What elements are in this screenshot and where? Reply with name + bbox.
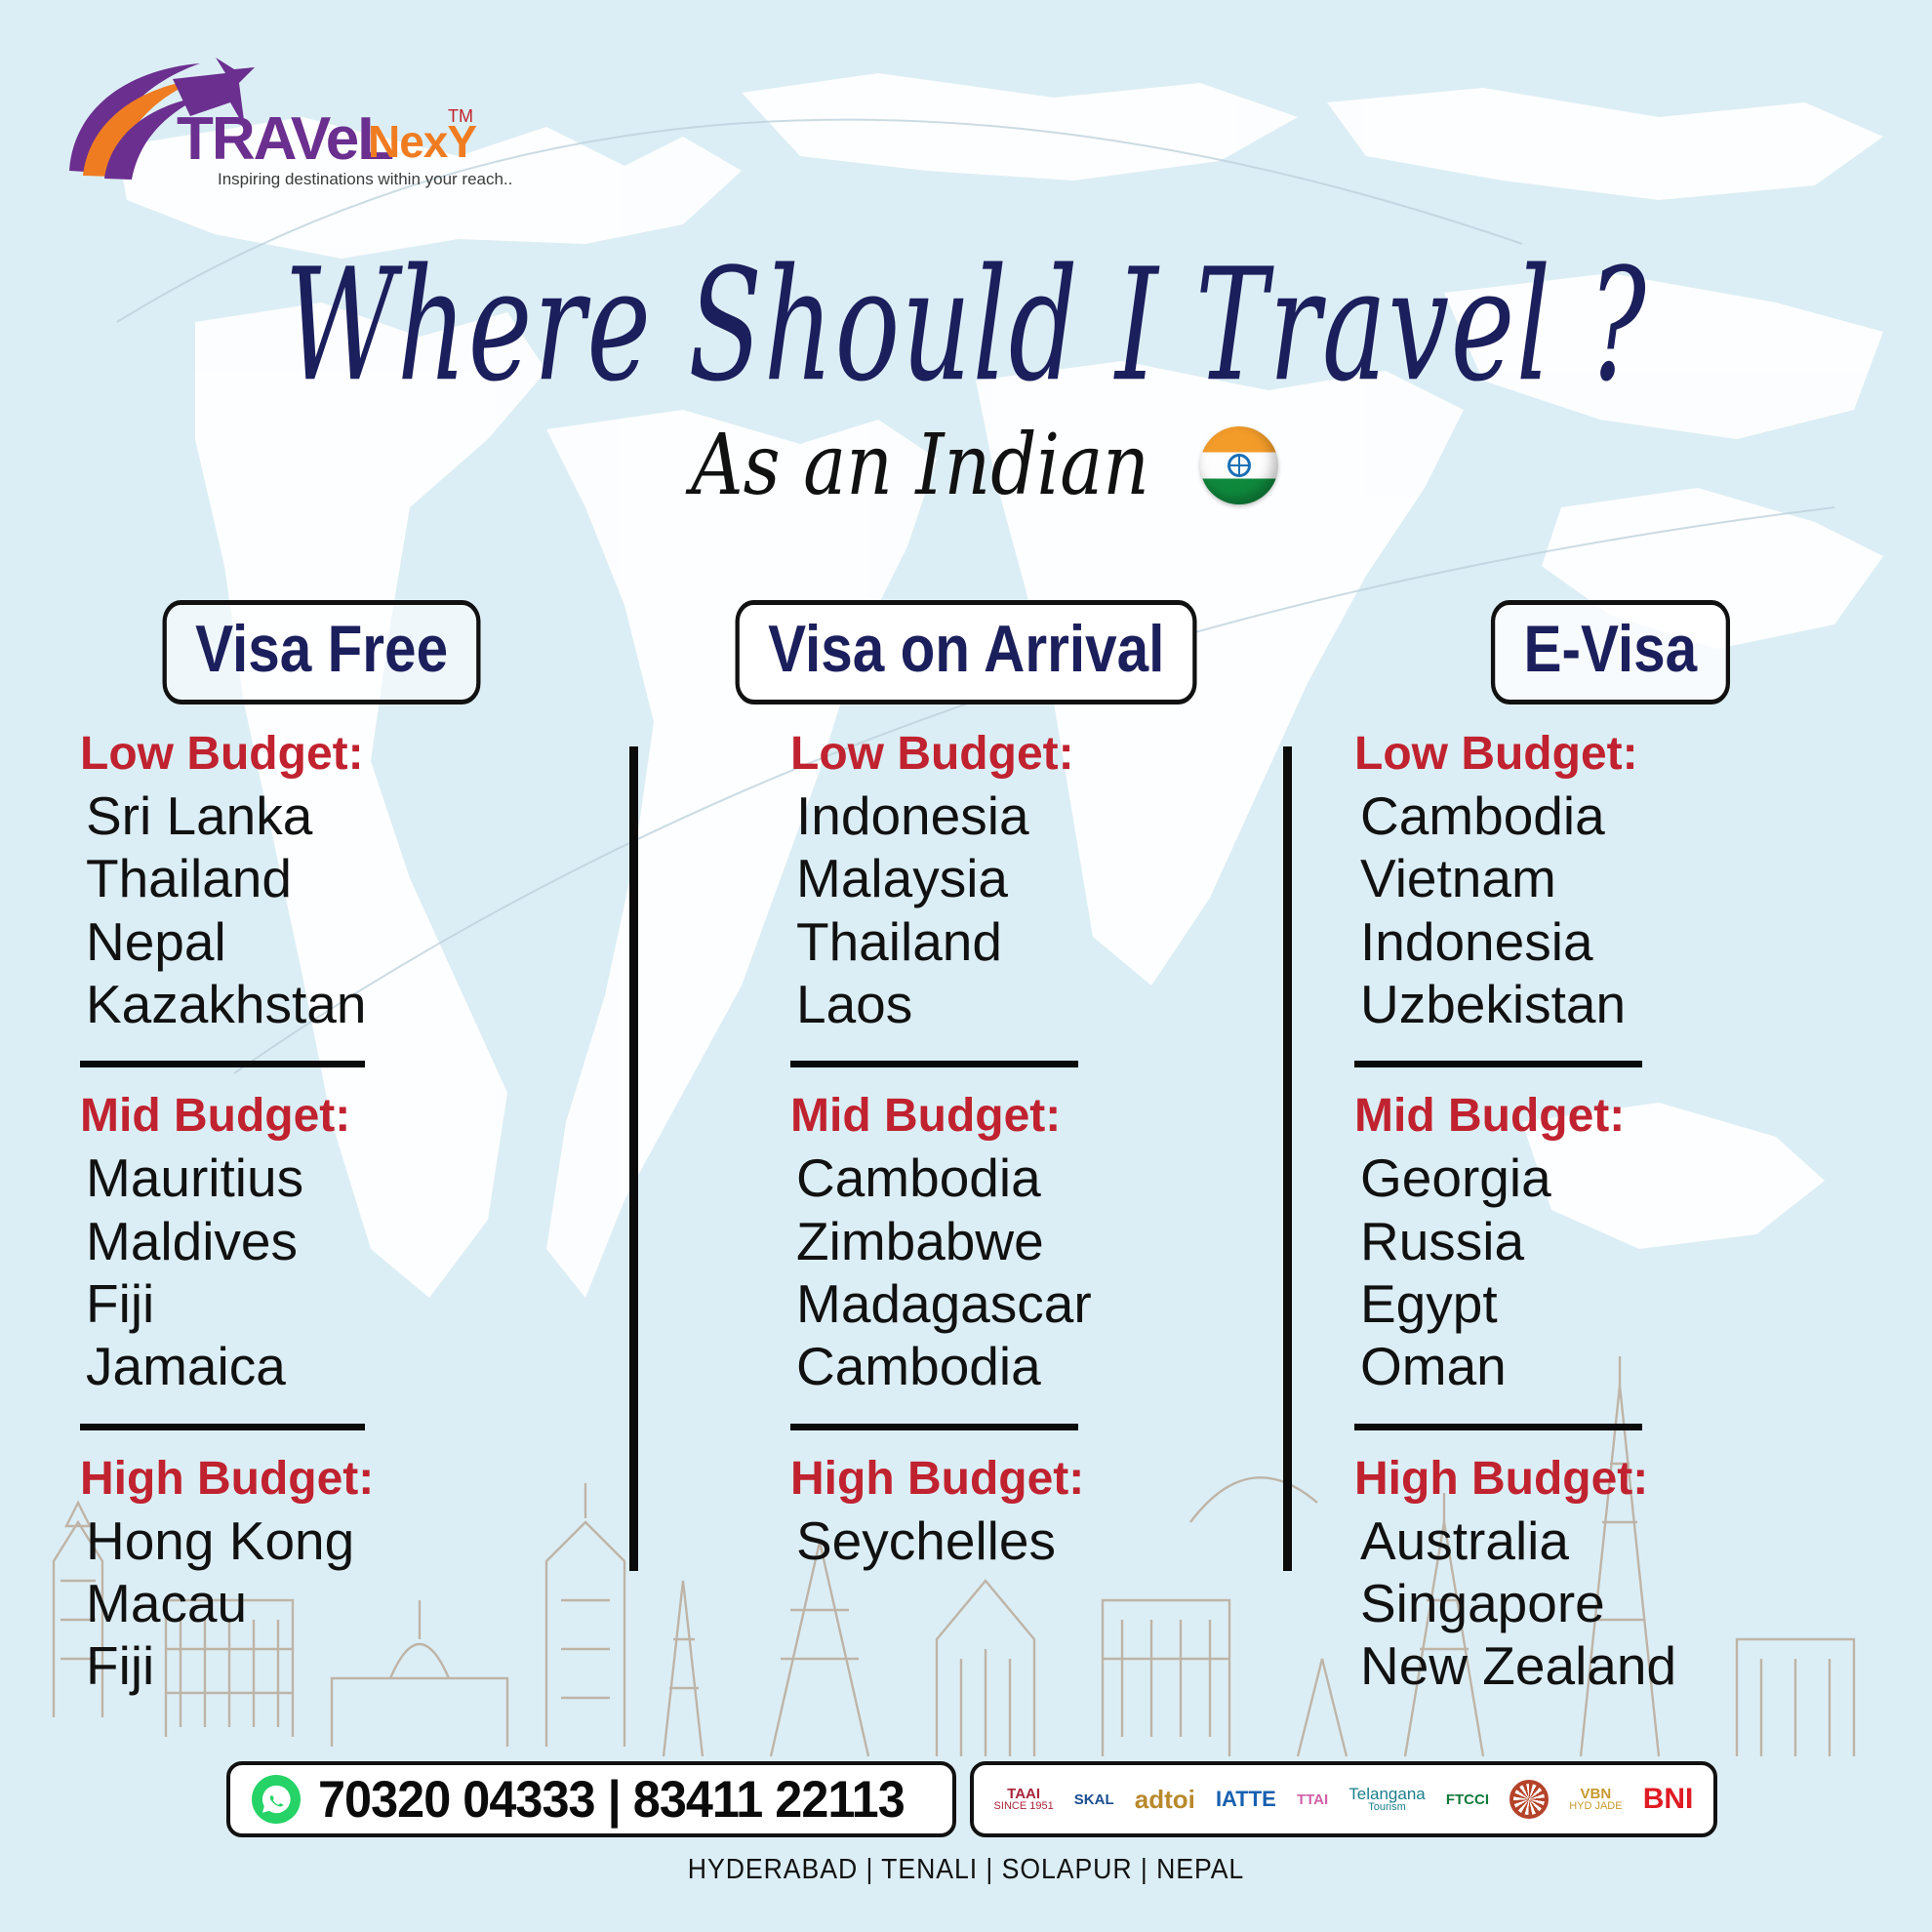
- section-divider: [1354, 1424, 1642, 1430]
- budget-label: High Budget:: [1354, 1452, 1893, 1506]
- partner-logo-telangana-tourism: TelanganaTourism: [1348, 1769, 1425, 1830]
- whatsapp-icon[interactable]: [252, 1775, 301, 1824]
- list-item: Oman: [1360, 1335, 1893, 1397]
- list-item: Russia: [1360, 1210, 1893, 1272]
- budget-label: High Budget:: [790, 1452, 1249, 1506]
- partner-logo-vbn-hyd-jade: VBNHYD JADE: [1569, 1769, 1622, 1830]
- list-item: Australia: [1360, 1509, 1893, 1572]
- list-item: Malaysia: [796, 847, 1249, 909]
- budget-block: High Budget:AustraliaSingaporeNew Zealan…: [1327, 1452, 1893, 1698]
- country-list: CambodiaZimbabweMadagascarCambodia: [796, 1147, 1249, 1397]
- list-item: Fiji: [86, 1272, 605, 1335]
- partner-logo-label: BNI: [1643, 1785, 1694, 1814]
- list-item: Cambodia: [1360, 785, 1893, 847]
- branch-cities: HYDERABAD | TENALI | SOLAPUR | NEPAL: [77, 1854, 1855, 1886]
- list-item: Kazakhstan: [86, 973, 605, 1035]
- contact-bar[interactable]: 70320 04333 | 83411 22113: [226, 1761, 956, 1837]
- partner-logo-label: TAAISINCE 1951: [994, 1787, 1054, 1812]
- budget-block: Mid Budget:CambodiaZimbabweMadagascarCam…: [683, 1089, 1249, 1397]
- visa-category-headers: Visa Free Visa on Arrival E-Visa: [0, 600, 1932, 704]
- list-item: Indonesia: [796, 785, 1249, 847]
- india-flag-circle-icon: [1200, 426, 1278, 504]
- budget-block: Low Budget:Sri LankaThailandNepalKazakhs…: [39, 727, 605, 1035]
- partner-logo-label: VBNHYD JADE: [1569, 1787, 1622, 1812]
- country-list: AustraliaSingaporeNew Zealand: [1360, 1509, 1893, 1698]
- partner-logo-label: TTAI: [1297, 1792, 1328, 1807]
- page-subtitle: As an Indian: [691, 417, 1149, 514]
- partner-logo-wheel-emblem: [1509, 1769, 1549, 1830]
- partner-logo-bni: BNI: [1643, 1769, 1694, 1830]
- partner-logo-ftcci: FTCCI: [1446, 1769, 1489, 1830]
- svg-text:TM: TM: [448, 106, 473, 126]
- country-list: GeorgiaRussiaEgyptOman: [1360, 1147, 1893, 1397]
- list-item: Maldives: [86, 1210, 605, 1272]
- list-item: Georgia: [1360, 1147, 1893, 1209]
- category-header-visa-free[interactable]: Visa Free: [163, 600, 481, 704]
- budget-label: Low Budget:: [80, 727, 605, 781]
- list-item: Indonesia: [1360, 910, 1893, 973]
- list-item: Hong Kong: [86, 1509, 605, 1572]
- budget-label: High Budget:: [80, 1452, 605, 1506]
- partner-logo-ttai: TTAI: [1297, 1769, 1328, 1830]
- partner-logo-iatte: IATTE: [1216, 1769, 1276, 1830]
- budget-label: Mid Budget:: [790, 1089, 1249, 1143]
- budget-label: Low Budget:: [790, 727, 1249, 781]
- partner-logo-label: IATTE: [1216, 1789, 1276, 1810]
- list-item: Vietnam: [1360, 847, 1893, 909]
- list-item: Thailand: [796, 910, 1249, 973]
- list-item: Madagascar: [796, 1272, 1249, 1335]
- phone-numbers[interactable]: 70320 04333 | 83411 22113: [318, 1770, 905, 1830]
- country-list: MauritiusMaldivesFijiJamaica: [86, 1147, 605, 1397]
- partner-logo-sublabel: HYD JADE: [1569, 1801, 1622, 1812]
- wheel-emblem-icon: [1509, 1780, 1549, 1819]
- partner-logo-adtoi: adtoi: [1135, 1769, 1195, 1830]
- category-header-visa-on-arrival[interactable]: Visa on Arrival: [735, 600, 1196, 704]
- list-item: New Zealand: [1360, 1634, 1893, 1697]
- partner-logo-sublabel: Tourism: [1348, 1802, 1425, 1813]
- list-item: Thailand: [86, 847, 605, 909]
- list-item: Seychelles: [796, 1509, 1249, 1572]
- budget-block: High Budget:Hong KongMacauFiji: [39, 1452, 605, 1698]
- list-item: Zimbabwe: [796, 1210, 1249, 1272]
- budget-block: Low Budget:IndonesiaMalaysiaThailandLaos: [683, 727, 1249, 1035]
- column-visa-free: Low Budget:Sri LankaThailandNepalKazakhs…: [0, 727, 644, 1732]
- section-divider: [790, 1061, 1078, 1067]
- category-header-e-visa[interactable]: E-Visa: [1491, 600, 1730, 704]
- list-item: Cambodia: [796, 1335, 1249, 1397]
- section-divider: [80, 1424, 365, 1430]
- budget-block: Low Budget:CambodiaVietnamIndonesiaUzbek…: [1327, 727, 1893, 1035]
- column-visa-on-arrival: Low Budget:IndonesiaMalaysiaThailandLaos…: [644, 727, 1288, 1732]
- budget-block: Mid Budget:MauritiusMaldivesFijiJamaica: [39, 1089, 605, 1397]
- list-item: Mauritius: [86, 1147, 605, 1209]
- country-list: IndonesiaMalaysiaThailandLaos: [796, 785, 1249, 1035]
- svg-text:TRAVeL: TRAVeL: [177, 105, 392, 173]
- country-list: Hong KongMacauFiji: [86, 1509, 605, 1698]
- partner-logo-label: FTCCI: [1446, 1792, 1489, 1807]
- column-e-visa: Low Budget:CambodiaVietnamIndonesiaUzbek…: [1288, 727, 1932, 1732]
- country-list: CambodiaVietnamIndonesiaUzbekistan: [1360, 785, 1893, 1035]
- list-item: Sri Lanka: [86, 785, 605, 847]
- budget-label: Mid Budget:: [1354, 1089, 1893, 1143]
- list-item: Macau: [86, 1572, 605, 1634]
- list-item: Laos: [796, 973, 1249, 1035]
- partner-logo-label: adtoi: [1135, 1787, 1195, 1812]
- footer: 70320 04333 | 83411 22113 TAAISINCE 1951…: [0, 1727, 1932, 1932]
- partner-logo-taai: TAAISINCE 1951: [994, 1769, 1054, 1830]
- list-item: Fiji: [86, 1634, 605, 1697]
- page-title: Where Should I Travel ?: [213, 249, 1719, 404]
- brand-tagline: Inspiring destinations within your reach…: [218, 170, 512, 188]
- country-list: Seychelles: [796, 1509, 1249, 1572]
- list-item: Singapore: [1360, 1572, 1893, 1634]
- budget-label: Mid Budget:: [80, 1089, 605, 1143]
- partner-logo-label: SKAL: [1074, 1792, 1114, 1807]
- list-item: Egypt: [1360, 1272, 1893, 1335]
- list-item: Cambodia: [796, 1147, 1249, 1209]
- section-divider: [790, 1424, 1078, 1430]
- partner-logos-strip: TAAISINCE 1951SKALadtoiIATTETTAITelangan…: [970, 1761, 1717, 1837]
- budget-block: High Budget:Seychelles: [683, 1452, 1249, 1572]
- budget-block: Mid Budget:GeorgiaRussiaEgyptOman: [1327, 1089, 1893, 1397]
- section-divider: [1354, 1061, 1642, 1067]
- section-divider: [80, 1061, 365, 1067]
- budget-label: Low Budget:: [1354, 727, 1893, 781]
- partner-logo-skal-international: SKAL: [1074, 1769, 1114, 1830]
- list-item: Uzbekistan: [1360, 973, 1893, 1035]
- partner-logo-sublabel: SINCE 1951: [994, 1801, 1054, 1812]
- partner-logo-label: TelanganaTourism: [1348, 1786, 1425, 1813]
- brand-logo: TRAVeL NexY TM Inspiring destinations wi…: [54, 44, 512, 190]
- list-item: Nepal: [86, 910, 605, 973]
- country-list: Sri LankaThailandNepalKazakhstan: [86, 785, 605, 1035]
- list-item: Jamaica: [86, 1335, 605, 1397]
